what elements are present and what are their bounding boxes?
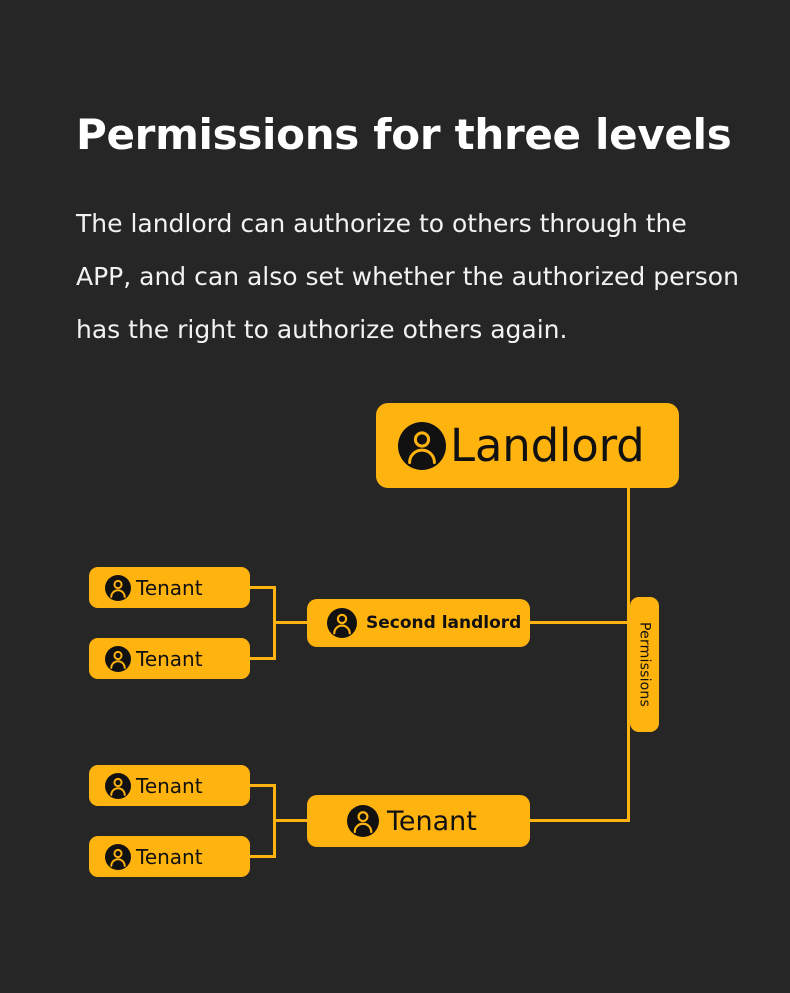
node-tenant-b1-label: Tenant	[136, 776, 203, 796]
person-icon	[105, 575, 131, 601]
node-tenant-mid[interactable]: Tenant	[307, 795, 530, 847]
person-icon	[105, 646, 131, 672]
node-tenant-a1-label: Tenant	[136, 578, 203, 598]
connector-bracket-upper	[250, 588, 275, 659]
node-second-landlord[interactable]: Second landlord	[307, 599, 530, 647]
node-tenant-a1[interactable]: Tenant	[89, 567, 250, 608]
node-tenant-mid-label: Tenant	[387, 808, 477, 835]
node-tenant-a2[interactable]: Tenant	[89, 638, 250, 679]
node-tenant-a2-label: Tenant	[136, 649, 203, 669]
permissions-label-tab: Permissions	[630, 597, 659, 732]
connector-root-spine	[530, 488, 629, 821]
node-landlord[interactable]: Landlord	[376, 403, 679, 488]
person-icon	[105, 773, 131, 799]
person-icon	[347, 805, 379, 837]
node-landlord-label: Landlord	[450, 423, 644, 468]
connector-bracket-lower	[250, 786, 275, 857]
permissions-label-text: Permissions	[637, 622, 653, 707]
person-icon	[327, 608, 357, 638]
node-second-landlord-label: Second landlord	[366, 615, 521, 632]
permissions-hierarchy-diagram: Permissions Landlord Second landlord Ten…	[0, 0, 790, 993]
node-tenant-b1[interactable]: Tenant	[89, 765, 250, 806]
person-icon	[105, 844, 131, 870]
node-tenant-b2[interactable]: Tenant	[89, 836, 250, 877]
person-icon	[398, 422, 446, 470]
node-tenant-b2-label: Tenant	[136, 847, 203, 867]
